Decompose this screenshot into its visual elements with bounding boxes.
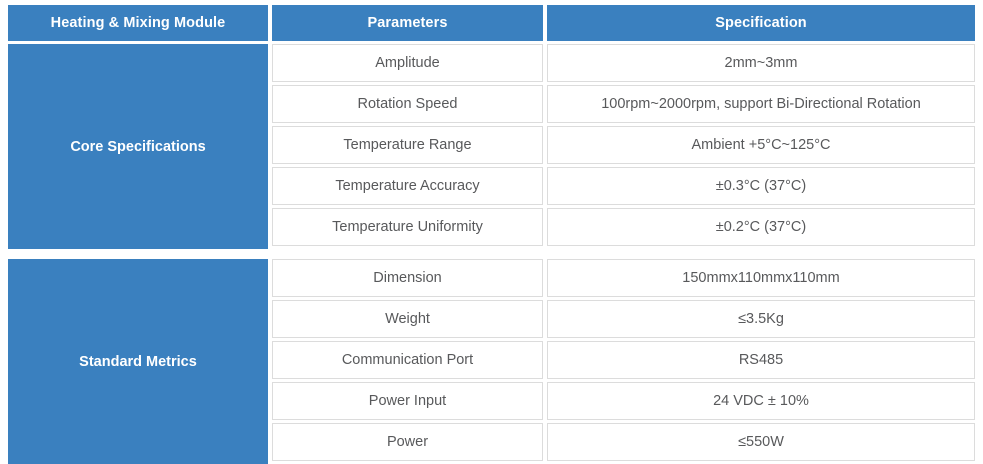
parameter-cell: Rotation Speed — [272, 85, 543, 123]
table-row: Rotation Speed 100rpm~2000rpm, support B… — [272, 85, 975, 123]
group-rows-core-specifications: Amplitude 2mm~3mm Rotation Speed 100rpm~… — [272, 44, 975, 249]
specification-cell: ≤3.5Kg — [547, 300, 975, 338]
specification-cell: 150mmx110mmx110mm — [547, 259, 975, 297]
parameter-cell: Temperature Accuracy — [272, 167, 543, 205]
table-row: Dimension 150mmx110mmx110mm — [272, 259, 975, 297]
header-cell-parameters: Parameters — [272, 5, 543, 41]
table-group-standard-metrics: Standard Metrics Dimension 150mmx110mmx1… — [8, 259, 975, 464]
table-row: Temperature Accuracy ±0.3°C (37°C) — [272, 167, 975, 205]
table-row: Temperature Range Ambient +5°C~125°C — [272, 126, 975, 164]
table-row: Temperature Uniformity ±0.2°C (37°C) — [272, 208, 975, 246]
parameter-cell: Communication Port — [272, 341, 543, 379]
specification-cell: RS485 — [547, 341, 975, 379]
group-cell-standard-metrics: Standard Metrics — [8, 259, 268, 464]
group-rows-standard-metrics: Dimension 150mmx110mmx110mm Weight ≤3.5K… — [272, 259, 975, 464]
parameter-cell: Temperature Uniformity — [272, 208, 543, 246]
header-cell-specification: Specification — [547, 5, 975, 41]
specification-cell: 100rpm~2000rpm, support Bi-Directional R… — [547, 85, 975, 123]
group-cell-core-specifications: Core Specifications — [8, 44, 268, 249]
table-group-core-specifications: Core Specifications Amplitude 2mm~3mm Ro… — [8, 44, 975, 249]
specification-cell: 2mm~3mm — [547, 44, 975, 82]
parameter-cell: Weight — [272, 300, 543, 338]
parameter-cell: Temperature Range — [272, 126, 543, 164]
table-row: Amplitude 2mm~3mm — [272, 44, 975, 82]
group-label-column: Core Specifications — [8, 44, 268, 249]
specification-table: Heating & Mixing Module Parameters Speci… — [8, 5, 975, 464]
parameter-cell: Amplitude — [272, 44, 543, 82]
specification-cell: Ambient +5°C~125°C — [547, 126, 975, 164]
parameter-cell: Power Input — [272, 382, 543, 420]
specification-cell: 24 VDC ± 10% — [547, 382, 975, 420]
specification-cell: ≤550W — [547, 423, 975, 461]
table-row: Power ≤550W — [272, 423, 975, 461]
group-separator — [8, 252, 975, 256]
table-row: Communication Port RS485 — [272, 341, 975, 379]
specification-cell: ±0.2°C (37°C) — [547, 208, 975, 246]
table-row: Power Input 24 VDC ± 10% — [272, 382, 975, 420]
group-label-column: Standard Metrics — [8, 259, 268, 464]
parameter-cell: Dimension — [272, 259, 543, 297]
parameter-cell: Power — [272, 423, 543, 461]
specification-cell: ±0.3°C (37°C) — [547, 167, 975, 205]
table-row: Weight ≤3.5Kg — [272, 300, 975, 338]
table-header-row: Heating & Mixing Module Parameters Speci… — [8, 5, 975, 41]
header-cell-module: Heating & Mixing Module — [8, 5, 268, 41]
